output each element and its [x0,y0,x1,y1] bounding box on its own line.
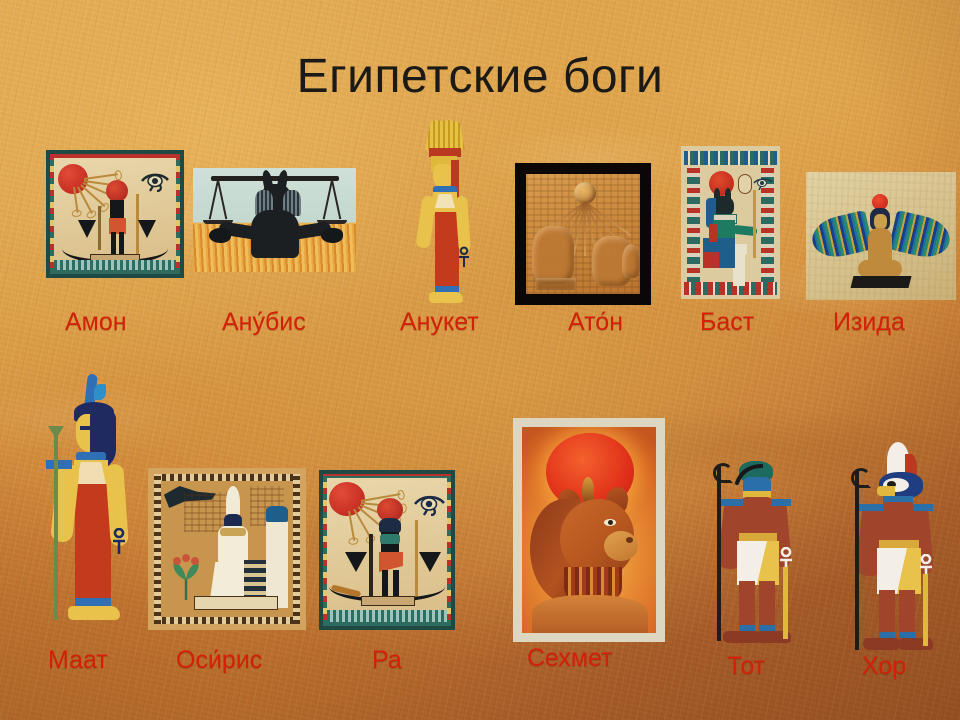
maat-staff [54,430,58,620]
horus-beak [877,486,895,496]
anuket-arm-right [455,196,471,253]
maat-armlet [46,460,72,469]
label-amon: Амон [65,308,127,337]
ra-lotus-left [345,552,367,572]
horus-was-staff [855,470,859,650]
anubis-hand-right [321,228,343,243]
image-tot[interactable] [703,455,815,655]
bast-base-frieze [684,282,777,295]
image-amon[interactable] [46,150,184,278]
horus-foot-back [863,638,899,650]
bast-cartouche [738,174,752,194]
thoth-armlet-left [719,499,743,506]
sekhmet-shoulders [532,595,648,633]
anuket-arm-left [415,195,436,248]
horus-armlet-right [913,504,933,511]
amon-sun-ray [84,173,118,180]
aton-figure-child [622,244,640,278]
sekhmet-nose [626,537,633,543]
maat-bodice [76,462,106,484]
osiris-border-left [154,474,161,624]
anubis-scale-beam [211,176,339,181]
image-hor[interactable] [843,442,957,656]
bast-throne-back [709,224,717,242]
ra-barque-pedestal [361,596,415,606]
ra-eye-of-horus-icon [413,492,447,516]
ra-scene-inner [327,478,447,622]
bast-throne-panel [703,252,719,268]
label-bast: Баст [700,308,754,337]
anuket-head [433,164,453,188]
bast-column-left [687,167,700,283]
maat-anklet [75,598,111,606]
image-ra[interactable] [319,470,455,630]
maat-feather-tip [94,384,106,400]
bast-eye-of-horus-icon [753,176,773,190]
label-tot: Тот [727,652,765,681]
horus-staff-head [851,468,871,488]
osiris-attendant-headdress [266,506,288,522]
anuket-feet [429,292,463,303]
anuket-dress [435,212,459,290]
osiris-dais [194,596,278,610]
sekhmet-muzzle [604,531,638,561]
aton-figure-akhenaten [532,226,574,284]
label-sekhmet: Сехмет [527,644,613,673]
image-bast[interactable] [681,146,780,299]
amon-scene-inner [54,158,176,270]
label-osiris: Оси́рис [176,646,262,675]
ra-lotus-right [419,552,441,572]
ra-kilt [379,552,403,572]
horus-sceptre [923,574,928,646]
slide-canvas: Египетские боги [0,0,960,720]
image-izida[interactable] [806,172,956,300]
aton-throne [536,278,576,290]
ra-water-line [327,610,447,622]
osiris-border-right [293,474,300,624]
thoth-torso [741,497,773,537]
anubis-torso [251,210,299,258]
thoth-armlet-right [771,499,791,506]
amon-head-disc [106,180,128,202]
maat-staff-papyrus-head [48,426,64,436]
maat-ankh-icon [110,528,128,556]
osiris-border-top [154,474,300,481]
sekhmet-portrait [522,427,656,633]
amon-water-line [54,260,176,270]
maat-dress [75,484,111,604]
osiris-attendant [266,514,288,608]
label-aton: Ато́н [568,308,623,337]
osiris-lotus-plant [166,554,206,600]
image-osiris[interactable] [148,468,306,630]
thoth-sceptre [783,567,788,639]
anuket-ankh-icon [457,246,471,268]
bast-lintel [684,151,777,165]
label-anubis: Ану́бис [222,308,306,337]
ra-collar [380,534,400,544]
aton-stone-relief [526,174,640,294]
label-maat: Маат [48,646,108,675]
thoth-was-staff [717,465,721,641]
label-hor: Хор [862,652,906,681]
horus-torso [881,502,915,544]
image-aton[interactable] [515,163,651,305]
osiris-collar [220,528,246,536]
osiris-border-bottom [154,617,300,624]
horus-armlet-left [857,504,883,511]
label-ra: Ра [372,646,402,675]
label-anuket: Анукет [400,308,479,337]
maat-feet [68,606,120,620]
sekhmet-eye [604,519,616,526]
anuket-feather-crown [425,120,465,150]
amon-eye-of-horus-icon [140,170,172,192]
thoth-foot-back [723,631,759,643]
anubis-hand-left [209,228,231,243]
image-sekhmet[interactable] [513,418,665,642]
slide-title: Египетские боги [0,52,960,102]
image-anubis[interactable] [193,168,356,272]
thoth-staff-head [713,463,733,483]
label-izida: Изида [833,308,905,337]
isis-face [874,214,887,229]
image-maat[interactable] [24,372,146,640]
image-anuket[interactable] [405,120,483,310]
bast-sceptre [753,190,756,258]
isis-plinth [851,276,912,288]
